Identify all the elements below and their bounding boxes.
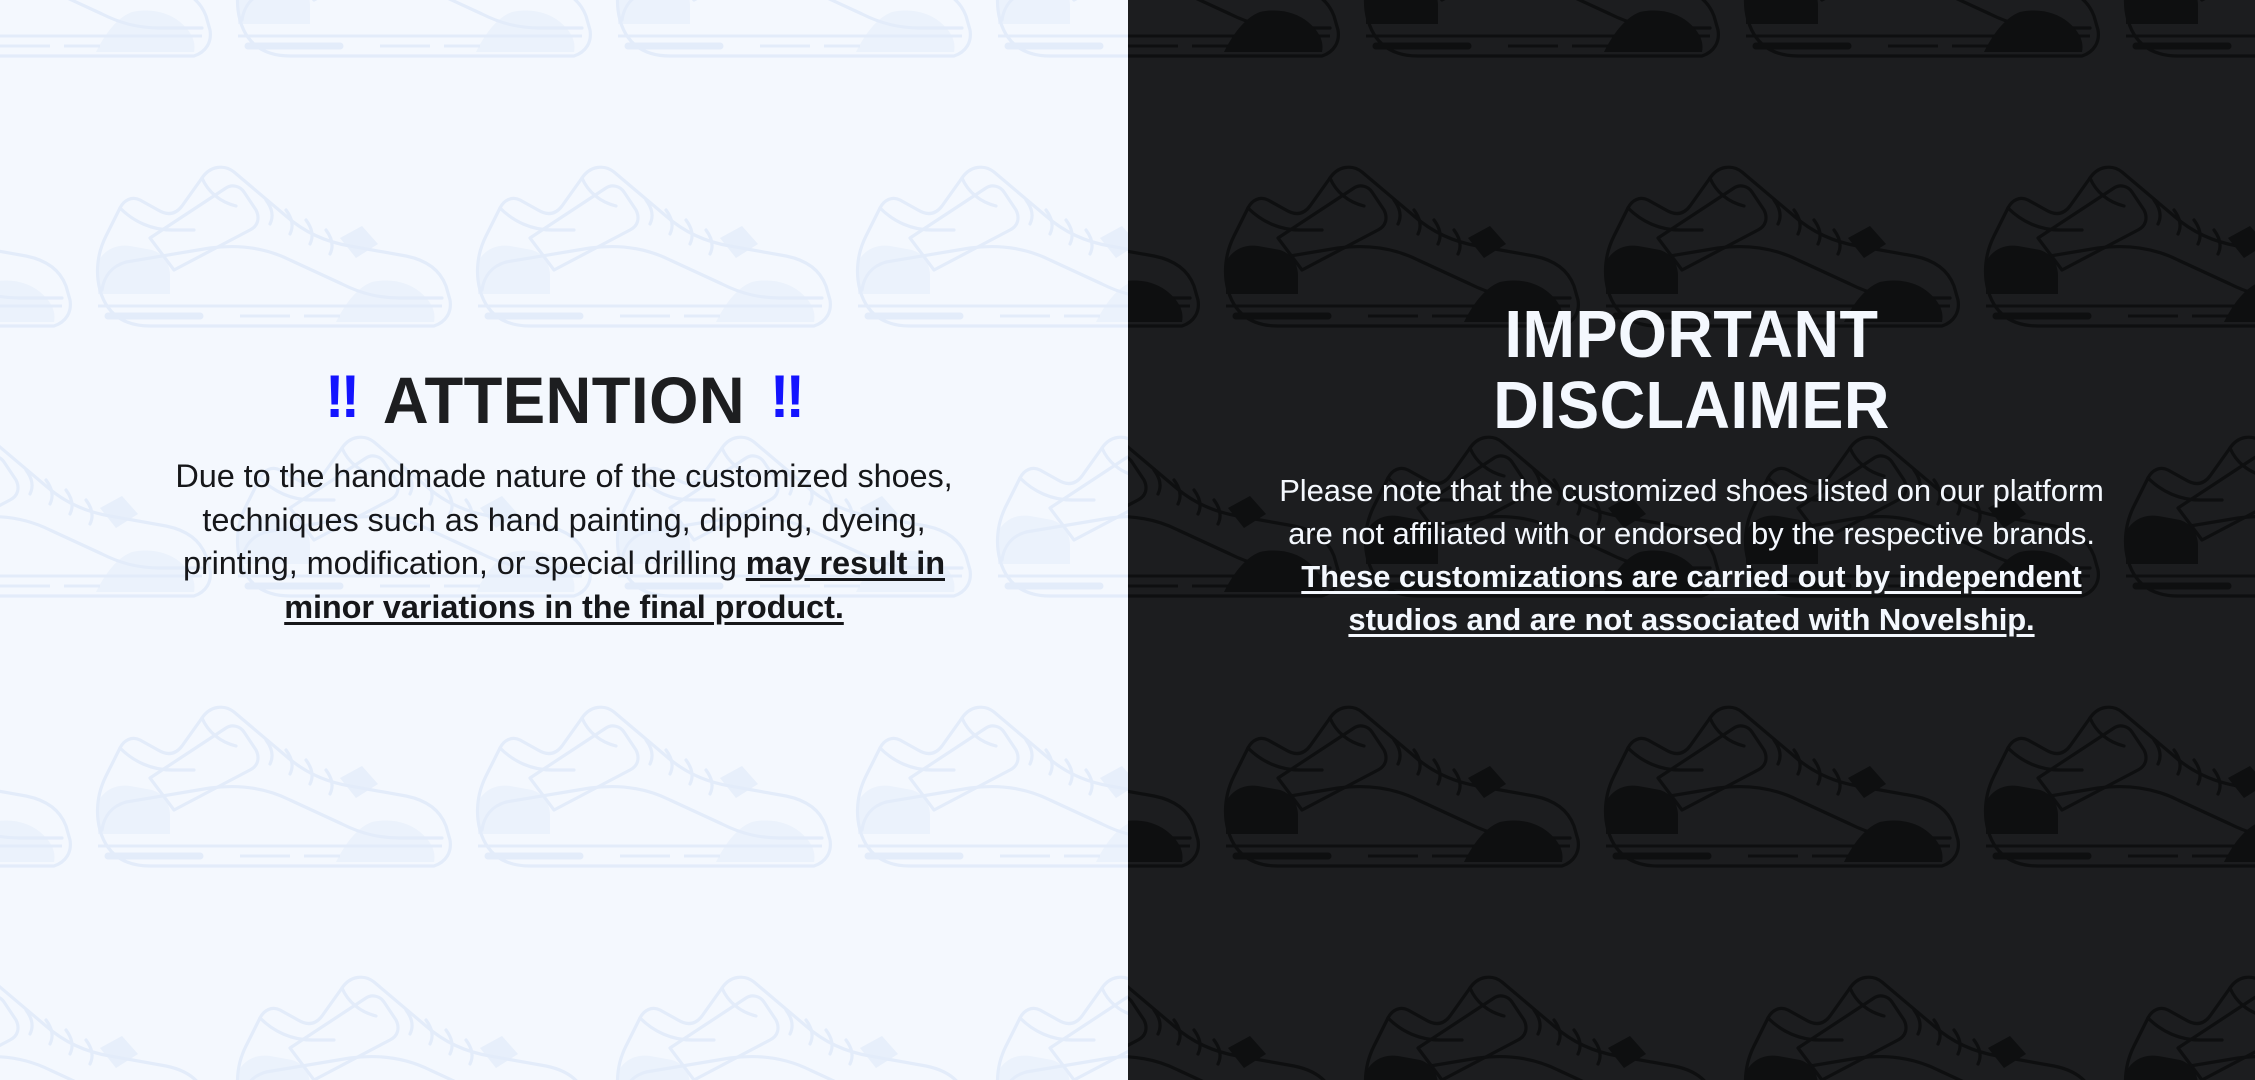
double-exclamation-icon-left: ‼	[325, 367, 358, 427]
attention-body: Due to the handmade nature of the custom…	[164, 455, 964, 629]
split-banner: ‼ ATTENTION ‼ Due to the handmade nature…	[0, 0, 2255, 1080]
double-exclamation-icon-right: ‼	[770, 367, 803, 427]
disclaimer-heading-line1: IMPORTANT	[1505, 297, 1879, 372]
disclaimer-body: Please note that the customized shoes li…	[1277, 469, 2107, 641]
disclaimer-body-emphasis: These customizations are carried out by …	[1301, 559, 2081, 637]
attention-panel: ‼ ATTENTION ‼ Due to the handmade nature…	[0, 0, 1128, 1080]
disclaimer-heading-line2: DISCLAIMER	[1493, 368, 1890, 443]
disclaimer-body-plain: Please note that the customized shoes li…	[1279, 473, 2104, 551]
disclaimer-panel: IMPORTANT DISCLAIMER Please note that th…	[1128, 0, 2255, 1080]
attention-content: ‼ ATTENTION ‼ Due to the handmade nature…	[0, 367, 1128, 629]
disclaimer-content: IMPORTANT DISCLAIMER Please note that th…	[1128, 299, 2255, 641]
attention-heading: ‼ ATTENTION ‼	[61, 367, 1067, 433]
attention-heading-text: ATTENTION	[383, 367, 745, 433]
disclaimer-heading: IMPORTANT DISCLAIMER	[1199, 299, 2183, 441]
